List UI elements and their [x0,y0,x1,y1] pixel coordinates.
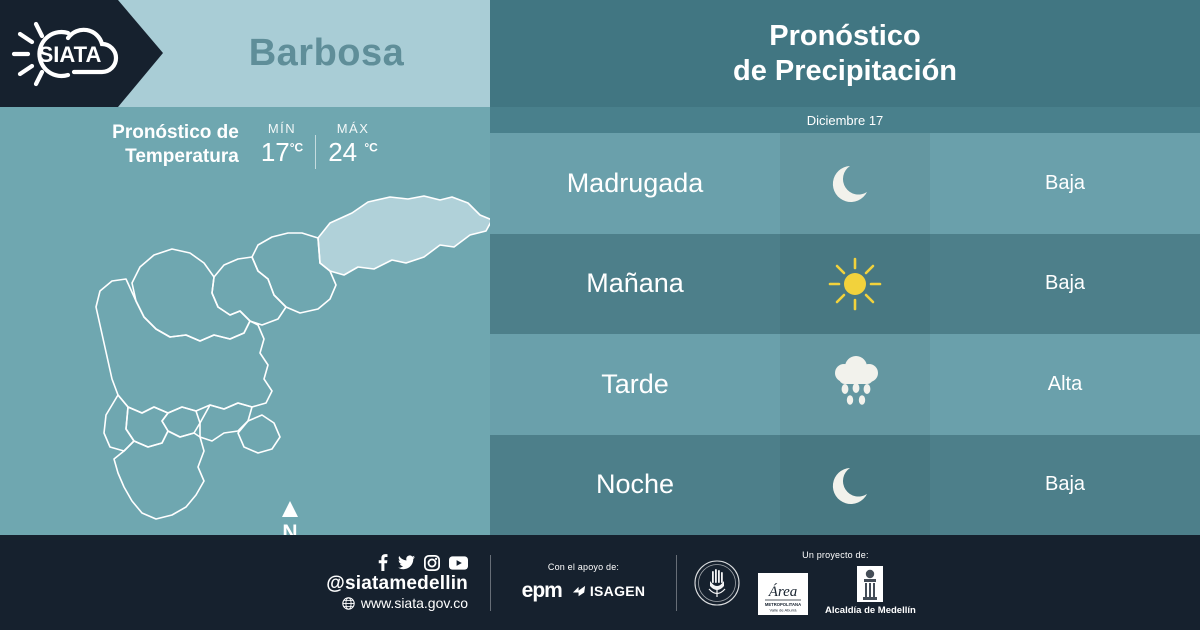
forecast-grid: Madrugada Baja Mañana [490,133,1200,535]
forecast-level: Baja [930,133,1200,234]
map-svg: N [0,175,490,535]
website-url: www.siata.gov.co [361,595,468,611]
support-caption: Con el apoyo de: [548,562,619,572]
forecast-period: Noche [490,435,780,536]
temperature-min-value-wrap: 17°C [261,137,303,168]
epm-logo: epm [522,579,562,603]
alcaldia-logo: Alcaldía de Medellín [825,565,916,616]
amva-name: Área [768,583,798,600]
rain-cloud-icon-svg [825,355,885,413]
forecast-period: Mañana [490,234,780,335]
temperature-min-value: 17 [261,137,290,167]
forecast-level: Baja [930,435,1200,536]
compass-north-icon: N [282,501,298,535]
map-region-envigado [238,415,280,453]
temperature-min-unit: °C [290,140,303,154]
temperature-max-label: MÁX [328,121,378,136]
aburra-valley-map: N [0,175,490,535]
forecast-level: Baja [930,234,1200,335]
footer: @siatamedellin www.siata.gov.co Con el a… [0,535,1200,630]
temperature-max: MÁX 24 °C [328,121,378,168]
social-block: @siatamedellin www.siata.gov.co [0,554,490,611]
forecast-row: Mañana Baja [490,234,1200,335]
precipitation-title-line2: de Precipitación [733,54,957,88]
temperature-max-value: 24 [328,137,357,167]
map-region-caldas [114,431,204,519]
isagen-text: ISAGEN [590,583,645,599]
globe-icon [342,597,355,610]
map-region-bello [132,249,250,341]
forecast-date: Diciembre 17 [807,113,884,128]
forecast-period: Madrugada [490,133,780,234]
amva-logo: Área METROPOLITANA Valle de Aburrá [755,572,811,616]
project-block: Un proyecto de: Área METROPOLITANA Valle… [677,550,1200,616]
siata-logo-text: SIATA [39,42,102,67]
moon-icon [780,133,930,234]
precipitation-title-line1: Pronóstico [733,19,957,53]
map-region-medellin [96,279,272,413]
website-row[interactable]: www.siata.gov.co [342,595,468,611]
temperature-title-line2: Temperatura [112,145,239,169]
precipitation-panel: Pronóstico de Precipitación Diciembre 17… [490,0,1200,535]
support-logos: epm ISAGEN [522,579,646,603]
support-block: Con el apoyo de: epm ISAGEN [491,562,676,603]
alcaldia-mark-icon [855,565,885,605]
temperature-max-value-wrap: 24 °C [328,137,378,168]
forecast-row: Madrugada Baja [490,133,1200,234]
udea-seal-icon [693,559,741,607]
precipitation-title: Pronóstico de Precipitación [733,19,957,87]
precipitation-header: Pronóstico de Precipitación [490,0,1200,107]
social-icons [377,554,468,571]
forecast-period: Tarde [490,334,780,435]
temperature-block: Pronóstico de Temperatura MÍN 17°C MÁX 2… [0,107,490,182]
moon-icon-svg [829,459,881,511]
map-region-sabaneta [200,403,252,441]
precipitation-date-band: Diciembre 17 [490,107,1200,133]
forecast-row: Tarde Alta [490,334,1200,435]
map-region-barbosa [318,196,490,275]
project-logos: Área METROPOLITANA Valle de Aburrá [755,565,916,616]
map-region-small-a [104,395,134,451]
compass-label: N [282,521,297,535]
youtube-icon[interactable] [449,556,468,570]
moon-icon-svg [829,157,881,209]
isagen-mark-icon [572,584,587,599]
alcaldia-name: Alcaldía de Medellín [825,605,916,616]
temperature-divider [315,135,316,169]
facebook-icon[interactable] [377,554,389,571]
twitter-icon[interactable] [398,554,415,571]
left-panel: SIATA Barbosa Pronóstico de Temperatura … [0,0,490,535]
map-region-la-estrella [126,407,168,447]
social-handle[interactable]: @siatamedellin [326,573,468,595]
amva-sub1: METROPOLITANA [765,602,801,607]
sun-icon [780,234,930,335]
project-inner: Un proyecto de: Área METROPOLITANA Valle… [755,550,916,616]
project-caption: Un proyecto de: [802,550,869,560]
isagen-logo: ISAGEN [572,583,645,599]
temperature-max-unit: °C [364,140,377,154]
moon-icon [780,435,930,536]
amva-sub2: Valle de Aburrá [769,607,797,612]
temperature-values: MÍN 17°C MÁX 24 °C [261,121,378,169]
temperature-min: MÍN 17°C [261,121,303,168]
city-name: Barbosa [163,0,490,107]
sun-icon-svg [827,256,883,312]
map-region-copacabana [212,257,286,325]
temperature-title-line1: Pronóstico de [112,121,239,145]
temperature-title: Pronóstico de Temperatura [112,121,239,169]
forecast-row: Noche Baja [490,435,1200,536]
amva-mark-icon: Área METROPOLITANA Valle de Aburrá [755,572,811,616]
forecast-level: Alta [930,334,1200,435]
siata-logo-icon: SIATA [10,18,132,90]
instagram-icon[interactable] [424,555,440,571]
temperature-min-label: MÍN [261,121,303,136]
rain-cloud-icon [780,334,930,435]
